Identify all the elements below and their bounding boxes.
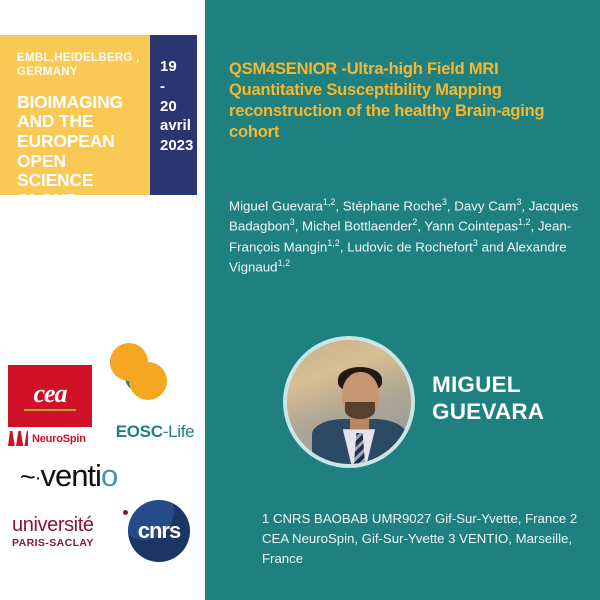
ventio-stem: venti xyxy=(40,458,100,493)
neurospin-logo: NeuroSpin xyxy=(8,431,100,446)
cnrs-logo-circle: cnrs xyxy=(128,500,190,562)
cea-neurospin-logo: cea NeuroSpin xyxy=(8,365,100,446)
speaker-photo-image xyxy=(287,340,411,464)
cea-logo-text: cea xyxy=(33,381,66,407)
neurospin-mark-icon xyxy=(8,431,28,446)
event-banner-yellow-block: EMBL,HEIDELBERG , GERMANY BIOIMAGING AND… xyxy=(0,35,150,195)
ventio-logo-text: ~·ventio xyxy=(20,460,190,491)
event-location: EMBL,HEIDELBERG , GERMANY xyxy=(17,51,144,80)
speaker-photo xyxy=(283,336,415,468)
event-banner-navy-block: 19 - 20 avril 2023 xyxy=(150,35,197,195)
cea-logo-box: cea xyxy=(8,365,92,427)
cnrs-logo: cnrs xyxy=(128,500,190,562)
eosc-suffix: -Life xyxy=(163,422,195,441)
event-banner: EMBL,HEIDELBERG , GERMANY BIOIMAGING AND… xyxy=(0,35,197,195)
paris-saclay-logo-text: PARIS-SACLAY xyxy=(12,537,127,549)
cnrs-logo-text: cnrs xyxy=(138,518,180,544)
eosc-life-logo-text: EOSC-Life xyxy=(110,422,200,442)
ventio-tilde-icon: ~ xyxy=(20,462,35,492)
affiliation-list: 1 CNRS BAOBAB UMR9027 Gif-Sur-Yvette, Fr… xyxy=(262,509,592,568)
universite-paris-saclay-logo: université PARIS-SACLAY xyxy=(12,515,127,549)
eosc-life-logo: EOSC-Life xyxy=(110,362,200,442)
universite-logo-text: université xyxy=(12,515,127,535)
neurospin-logo-text: NeuroSpin xyxy=(32,433,86,445)
speaker-announcement-poster: EMBL,HEIDELBERG , GERMANY BIOIMAGING AND… xyxy=(0,0,600,600)
eosc-hearts-icon xyxy=(110,362,200,418)
eosc-main: EOSC xyxy=(116,422,163,441)
logo-area: cea NeuroSpin EOSC-Life ~·ventio univers… xyxy=(0,350,205,600)
universite-word: université xyxy=(12,514,94,536)
talk-title: QSM4SENIOR -Ultra-high Field MRI Quantit… xyxy=(229,59,574,143)
ventio-logo: ~·ventio xyxy=(20,460,190,491)
author-list: Miguel Guevara1,2, Stéphane Roche3, Davy… xyxy=(229,196,579,277)
ventio-o: o xyxy=(101,458,117,493)
event-date: 19 - 20 avril 2023 xyxy=(160,57,197,156)
cea-logo-underline xyxy=(24,409,76,411)
speaker-name: MIGUEL GUEVARA xyxy=(432,371,592,425)
event-name: BIOIMAGING AND THE EUROPEAN OPEN SCIENCE… xyxy=(17,93,144,211)
